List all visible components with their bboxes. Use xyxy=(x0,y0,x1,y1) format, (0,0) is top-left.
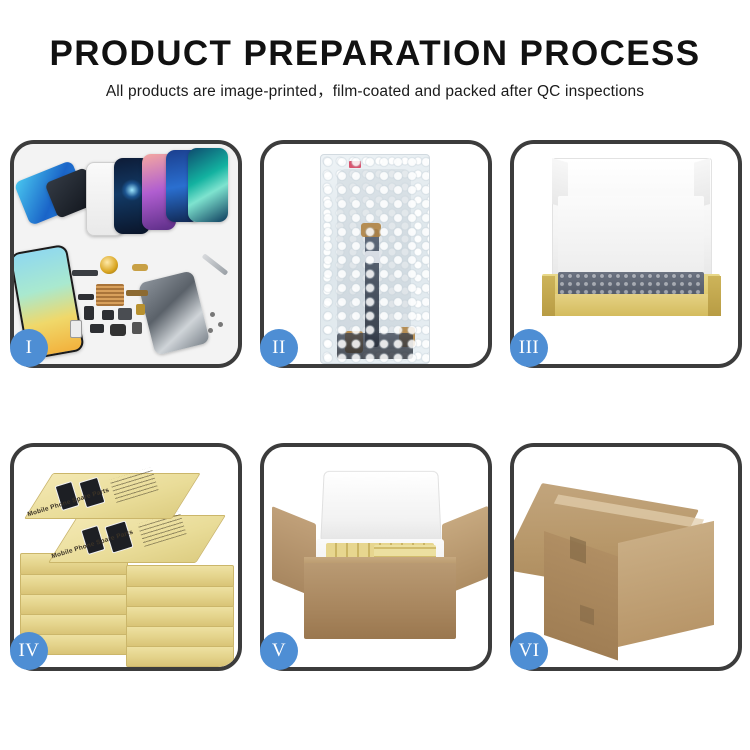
phone-back-housing-icon xyxy=(138,270,210,355)
spare-part xyxy=(136,304,145,315)
page-title: PRODUCT PREPARATION PROCESS xyxy=(0,34,750,74)
screw-icon xyxy=(210,312,215,317)
process-step-panel-6[interactable]: VI xyxy=(510,443,742,671)
flex-cable-icon xyxy=(365,229,379,347)
gold-box-front-face xyxy=(542,294,720,316)
foam-sheet xyxy=(558,196,704,276)
spare-part xyxy=(72,270,98,276)
gold-box-slab xyxy=(126,625,234,647)
process-steps-grid: I II xyxy=(10,140,742,671)
gold-box-printed-lid xyxy=(48,515,226,563)
pink-qc-label xyxy=(349,161,361,168)
spare-part xyxy=(118,308,132,320)
page-header: PRODUCT PREPARATION PROCESS All products… xyxy=(0,0,750,103)
step-3-image xyxy=(514,144,738,364)
spare-part xyxy=(90,324,104,333)
gold-box-slab xyxy=(126,565,234,587)
gold-coil-part-icon xyxy=(100,256,118,274)
connector-icon xyxy=(361,223,381,237)
carton-right-face xyxy=(618,521,714,647)
screen-bottom-shadow xyxy=(337,333,413,359)
spare-part xyxy=(126,290,148,296)
gold-box-slab xyxy=(126,605,234,627)
gold-box-right-side xyxy=(708,276,721,316)
step-2-image xyxy=(264,144,488,364)
carton-body xyxy=(304,563,456,639)
tweezers-icon xyxy=(202,253,229,275)
step-badge-1: I xyxy=(10,329,48,367)
process-step-panel-3[interactable]: III xyxy=(510,140,742,368)
screw-icon xyxy=(208,328,213,333)
spare-part xyxy=(84,306,94,320)
spare-part xyxy=(132,264,148,271)
step-badge-2: II xyxy=(260,329,298,367)
gold-box-stack: Mobile Phone Spare Parts Mobile Phone Sp… xyxy=(14,447,238,667)
process-step-panel-5[interactable]: V xyxy=(260,443,492,671)
gold-box-slab xyxy=(20,593,128,615)
gold-box-left-side xyxy=(542,276,555,316)
gold-box-slab xyxy=(20,573,128,595)
teal-gradient-phone-icon xyxy=(188,148,228,222)
gold-box-slab xyxy=(126,585,234,607)
step-6-image xyxy=(514,447,738,667)
process-step-panel-2[interactable]: II xyxy=(260,140,492,368)
step-4-image: Mobile Phone Spare Parts Mobile Phone Sp… xyxy=(14,447,238,667)
spare-part xyxy=(70,320,82,338)
foam-lid-open xyxy=(320,471,442,543)
step-badge-6: VI xyxy=(510,632,548,670)
spare-part xyxy=(132,322,142,334)
step-1-image xyxy=(14,144,238,364)
process-step-panel-4[interactable]: Mobile Phone Spare Parts Mobile Phone Sp… xyxy=(10,443,242,671)
page-subtitle: All products are image-printed，film-coat… xyxy=(0,81,750,103)
step-5-image xyxy=(264,447,488,667)
bubble-wrap-bag xyxy=(320,154,430,364)
gold-box-slab xyxy=(20,613,128,635)
spare-part xyxy=(78,294,94,300)
step-badge-5: V xyxy=(260,632,298,670)
step-badge-4: IV xyxy=(10,632,48,670)
gold-box-slab xyxy=(126,645,234,667)
chip-icon xyxy=(365,251,381,263)
screw-icon xyxy=(218,322,223,327)
process-step-panel-1[interactable]: I xyxy=(10,140,242,368)
phone-parts-scene xyxy=(14,144,238,364)
spare-part xyxy=(110,324,126,336)
step-badge-3: III xyxy=(510,329,548,367)
spare-part xyxy=(96,284,124,306)
spare-part xyxy=(102,310,114,320)
